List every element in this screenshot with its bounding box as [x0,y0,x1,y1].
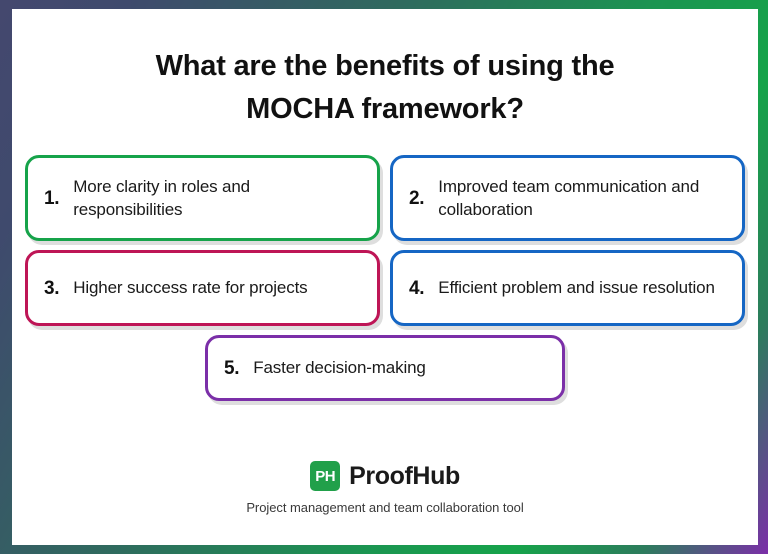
benefits-row-1: 1. More clarity in roles and responsibil… [12,155,758,241]
benefits-row-3: 5. Faster decision-making [12,335,758,401]
page-title-line-1: What are the benefits of using the [82,45,688,88]
page-title-line-2: MOCHA framework? [82,88,688,131]
benefit-number-4: 4. [409,279,424,298]
benefit-card-2: 2. Improved team communication and colla… [390,155,745,241]
benefit-text-3: Higher success rate for projects [73,276,307,299]
poster-body: What are the benefits of using the MOCHA… [12,9,758,545]
benefit-card-3: 3. Higher success rate for projects [25,250,380,326]
benefit-number-5: 5. [224,359,239,378]
brand-name: ProofHub [349,462,460,491]
benefit-card-4: 4. Efficient problem and issue resolutio… [390,250,745,326]
benefit-text-5: Faster decision-making [253,356,425,379]
benefit-text-1: More clarity in roles and responsibiliti… [73,175,363,222]
benefit-card-1: 1. More clarity in roles and responsibil… [25,155,380,241]
benefit-number-2: 2. [409,189,424,208]
benefit-text-2: Improved team communication and collabor… [438,175,728,222]
benefit-number-3: 3. [44,279,59,298]
brand-lockup: PH ProofHub [12,461,758,491]
benefits-list: 1. More clarity in roles and responsibil… [12,155,758,410]
poster-frame: What are the benefits of using the MOCHA… [0,0,768,554]
proofhub-logo-icon: PH [310,461,340,491]
page-title: What are the benefits of using the MOCHA… [12,9,758,131]
brand-tagline: Project management and team collaboratio… [12,500,758,515]
benefit-number-1: 1. [44,189,59,208]
benefit-text-4: Efficient problem and issue resolution [438,276,715,299]
benefits-row-2: 3. Higher success rate for projects 4. E… [12,250,758,326]
footer: PH ProofHub Project management and team … [12,461,758,515]
benefit-card-5: 5. Faster decision-making [205,335,565,401]
